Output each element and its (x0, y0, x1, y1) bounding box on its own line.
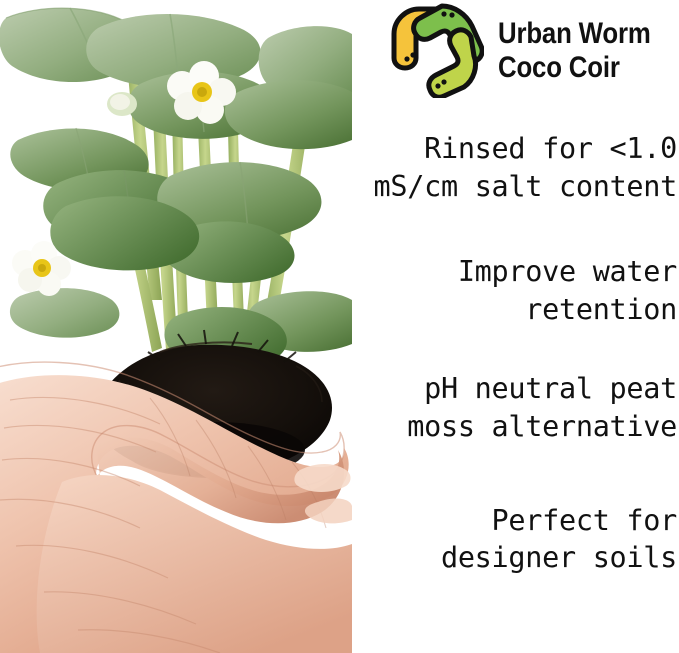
brand-name-line-1: Urban Worm (498, 17, 651, 51)
brand-logo: Urban Worm Coco Coir (386, 2, 675, 98)
brand-wordmark: Urban Worm Coco Coir (498, 15, 675, 84)
recycling-worms-triangle-icon (386, 2, 484, 98)
product-feature-graphic: Urban Worm Coco Coir Rinsed for <1.0 mS/… (0, 0, 679, 653)
brand-name-line-2: Coco Coir (498, 51, 651, 85)
benefit-water-retention: Improve water retention (300, 253, 679, 328)
benefit-designer-soils: Perfect for designer soils (300, 502, 679, 577)
benefits-list: Rinsed for <1.0 mS/cm salt content Impro… (300, 130, 679, 577)
benefit-ph-neutral: pH neutral peat moss alternative (300, 370, 679, 445)
benefit-salt-content: Rinsed for <1.0 mS/cm salt content (300, 130, 679, 205)
